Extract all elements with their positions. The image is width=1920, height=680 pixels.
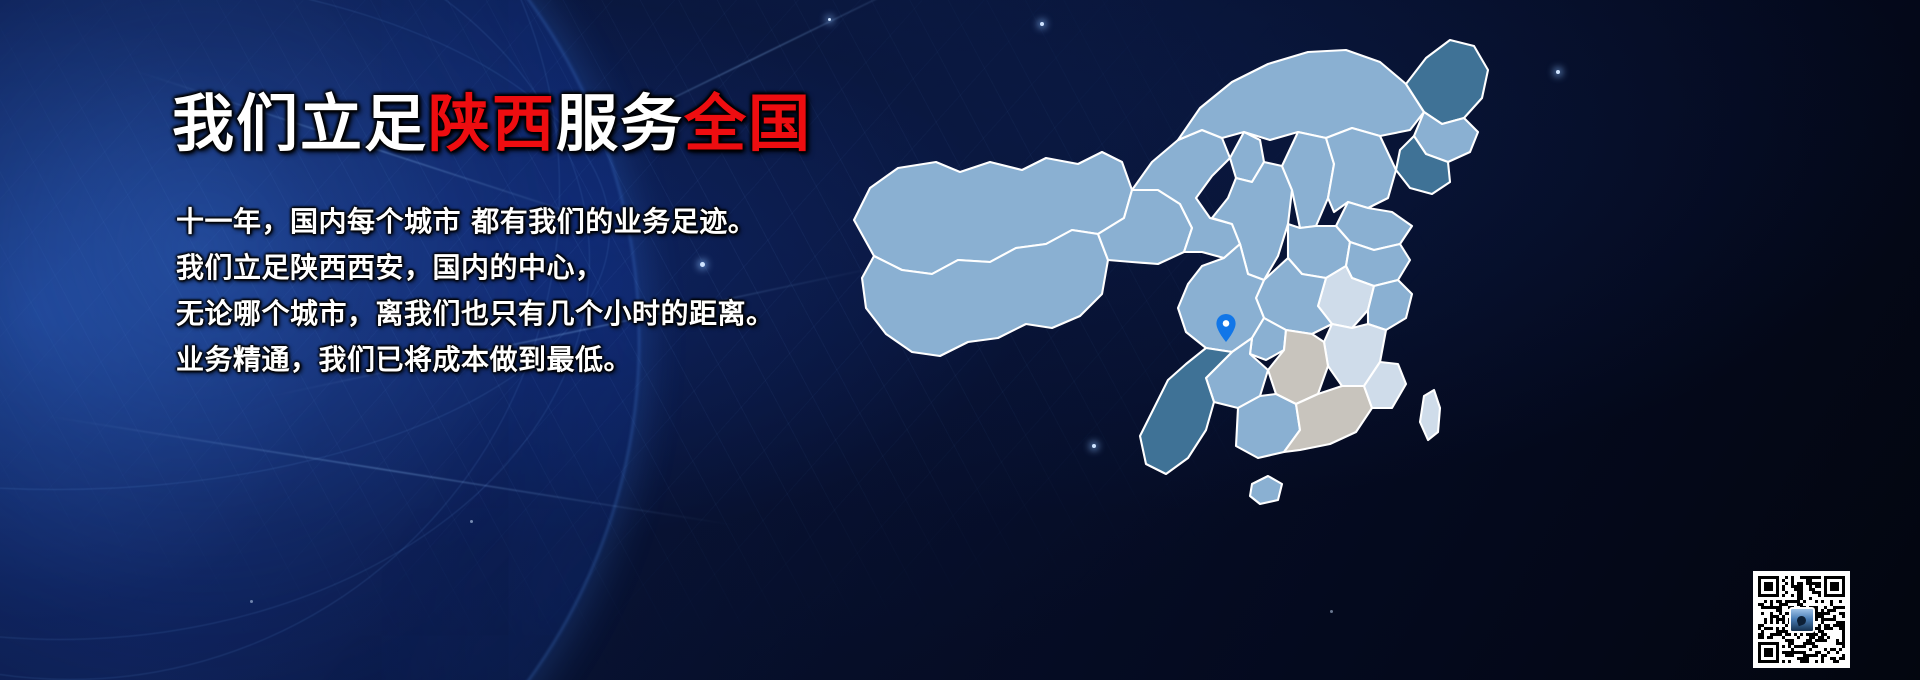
headline-segment-3: 服务: [556, 87, 684, 160]
star: [828, 18, 831, 21]
body-line-3: 无论哪个城市，离我们也只有几个小时的距离。: [176, 291, 775, 337]
body-copy: 十一年，国内每个城市 都有我们的业务足迹。 我们立足陕西西安，国内的中心， 无论…: [176, 199, 775, 383]
qr-code[interactable]: [1753, 571, 1850, 668]
body-line-4: 业务精通，我们已将成本做到最低。: [176, 337, 775, 383]
promo-banner: 我们立足陕西服务全国 十一年，国内每个城市 都有我们的业务足迹。 我们立足陕西西…: [0, 0, 1920, 680]
headline: 我们立足陕西服务全国: [172, 88, 812, 160]
china-map: [840, 12, 1540, 557]
body-line-2: 我们立足陕西西安，国内的中心，: [176, 245, 775, 291]
star: [1556, 70, 1560, 74]
star: [470, 520, 473, 523]
headline-segment-1: 我们立足: [172, 87, 428, 160]
star: [1330, 610, 1333, 613]
star: [250, 600, 253, 603]
location-pin: [1216, 314, 1236, 342]
qr-center-logo: [1789, 607, 1815, 633]
headline-segment-2: 陕西: [428, 87, 556, 160]
headline-segment-4: 全国: [684, 87, 812, 160]
body-line-1: 十一年，国内每个城市 都有我们的业务足迹。: [176, 199, 775, 245]
